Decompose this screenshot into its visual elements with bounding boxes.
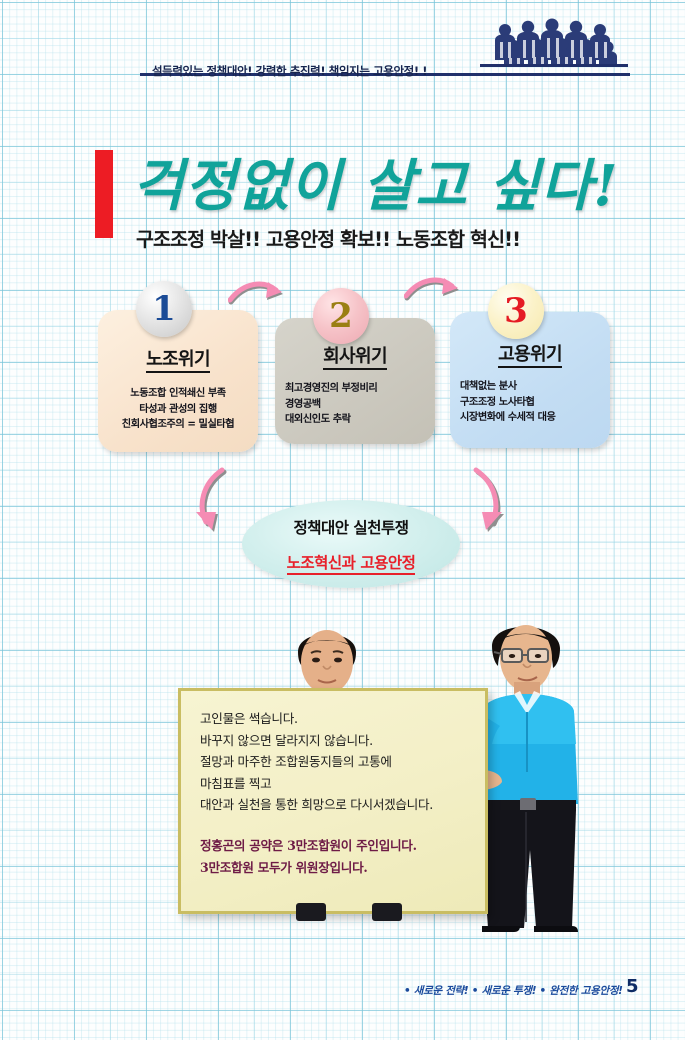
right-person-figure xyxy=(468,612,608,942)
slogan-line-top: 정책대안 실천투쟁 xyxy=(242,516,460,538)
arrow-down-left-icon xyxy=(192,466,240,540)
arrow-box2-to-box3-icon xyxy=(404,274,464,314)
footer-slogan: • 새로운 전략! • 새로운 투쟁! • 완전한 고용안정! xyxy=(404,983,623,998)
brochure-page: 설득력있는 정책대안! 강력한 추진력! 책임지는 고용안정! ! 걱정없이 살… xyxy=(0,0,685,1040)
step-number-badge-2: 2 xyxy=(313,288,369,344)
arrow-down-right-icon xyxy=(458,466,506,540)
slogan-line-bottom: 노조혁신과 고용안정 xyxy=(242,551,460,573)
crisis-box-bullets-2: 최고경영진의 부정비리경영공백대외신인도 추락 xyxy=(285,381,435,428)
placard-body-text: 고인물은 썩습니다.바꾸지 않으면 달라지지 않습니다.절망과 마주한 조합원동… xyxy=(200,708,472,816)
header-tagline: 설득력있는 정책대안! 강력한 추진력! 책임지는 고용안정! ! xyxy=(152,63,427,79)
crisis-box-bullets-1: 노동조합 인적쇄신 부족타성과 관성의 집행친회사협조주의 = 밀실타협 xyxy=(100,386,256,433)
page-subtitle: 구조조정 박살!! 고용안정 확보!! 노동조합 혁신!! xyxy=(136,223,520,252)
placard-handles-icon xyxy=(280,903,420,925)
title-accent-bar xyxy=(95,150,113,238)
step-number-badge-1: 1 xyxy=(136,281,192,337)
step-number-badge-3: 3 xyxy=(488,283,544,339)
placard-pledge-text: 정홍곤의 공약은 3만조합원이 주인입니다.3만조합원 모두가 위원장입니다. xyxy=(200,835,472,878)
page-number: 5 xyxy=(626,976,639,997)
arrow-box1-to-box2-icon xyxy=(228,278,288,318)
crisis-box-bullets-3: 대책없는 분사구조조정 노사타협시장변화에 수세적 대응 xyxy=(460,379,610,426)
crisis-box-title-1: 노조위기 xyxy=(98,345,258,371)
page-title: 걱정없이 살고 싶다! xyxy=(132,141,619,222)
group-photo-icon xyxy=(480,16,628,68)
crisis-box-title-3: 고용위기 xyxy=(450,340,610,366)
crisis-box-title-2: 회사위기 xyxy=(275,342,435,368)
